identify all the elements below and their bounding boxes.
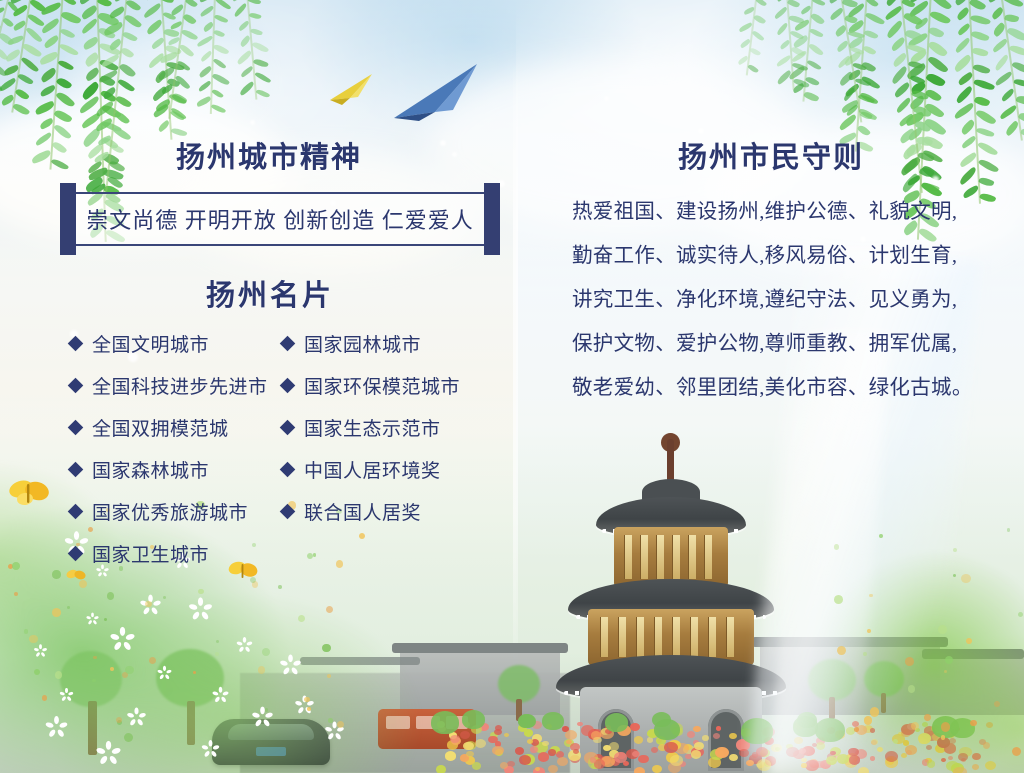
confetti-dot xyxy=(14,592,18,596)
flower-icon xyxy=(160,668,169,677)
confetti-dot xyxy=(893,739,898,744)
list-item-label: 国家优秀旅游城市 xyxy=(92,498,248,525)
bush-icon xyxy=(605,713,628,732)
confetti-dot xyxy=(359,533,365,539)
cards-column-right: 国家园林城市 国家环保模范城市 国家生态示范市 中国人居环境奖 联合国人居奖 xyxy=(282,322,460,532)
confetti-dot xyxy=(961,574,971,584)
page-title-rules: 扬州市民守则 xyxy=(678,134,864,176)
confetti-dot xyxy=(92,679,96,683)
list-item-label: 中国人居环境奖 xyxy=(304,456,441,483)
rules-line: 勤奋工作、诚实待人,移风易俗、计划生育, xyxy=(572,234,982,278)
rules-line: 讲究卫生、净化环境,遵纪守法、见义勇为, xyxy=(572,278,982,322)
confetti-dot xyxy=(966,638,972,644)
diamond-bullet-icon xyxy=(68,377,84,393)
confetti-dot xyxy=(908,685,916,693)
list-item-label: 国家森林城市 xyxy=(92,456,209,483)
flower-icon xyxy=(284,658,298,672)
paper-plane-icon xyxy=(391,60,481,122)
list-item: 全国科技进步先进市 xyxy=(70,364,268,406)
confetti-dot xyxy=(24,629,29,634)
confetti-dot xyxy=(328,718,332,722)
flower-icon xyxy=(638,755,649,764)
poster-canvas: 扬州城市精神 崇文尚德 开明开放 创新创造 仁爱爱人 扬州名片 全国文明城市 全… xyxy=(0,0,1024,773)
diamond-bullet-icon xyxy=(280,503,296,519)
flower-icon xyxy=(634,736,643,744)
confetti-dot xyxy=(215,652,219,656)
confetti-dot xyxy=(941,722,951,732)
confetti-dot xyxy=(869,594,872,597)
list-item: 国家卫生城市 xyxy=(70,532,268,574)
butterfly-icon xyxy=(8,478,50,508)
flower-icon xyxy=(114,630,130,646)
confetti-dot xyxy=(924,714,931,721)
flower-icon xyxy=(215,689,226,700)
confetti-dot xyxy=(834,544,839,549)
confetti-dot xyxy=(864,716,872,724)
citizen-rules-text: 热爱祖国、建设扬州,维护公德、礼貌文明, 勤奋工作、诚实待人,移风易俗、计划生育… xyxy=(572,190,982,410)
motto-rule-bottom xyxy=(68,244,492,246)
flower-icon xyxy=(62,690,71,699)
section-title-cards: 扬州名片 xyxy=(206,272,334,314)
bokeh-sparkle xyxy=(932,176,939,183)
flower-icon xyxy=(130,710,142,722)
confetti-dot xyxy=(336,560,343,567)
confetti-dot xyxy=(12,562,20,570)
list-item: 国家园林城市 xyxy=(282,322,460,364)
flower-icon xyxy=(49,719,64,734)
bush-icon xyxy=(652,712,672,728)
confetti-dot xyxy=(307,707,311,711)
motto-bar-right xyxy=(484,183,500,255)
confetti-dot xyxy=(298,615,305,622)
list-item-label: 国家卫生城市 xyxy=(92,540,209,567)
confetti-dot xyxy=(870,707,880,717)
confetti-dot xyxy=(327,674,331,678)
list-item: 中国人居环境奖 xyxy=(282,448,460,490)
confetti-dot xyxy=(953,548,957,552)
flower-icon xyxy=(88,614,96,622)
flower-icon xyxy=(590,757,597,762)
flower-icon xyxy=(652,765,662,773)
confetti-dot xyxy=(107,592,115,600)
diamond-bullet-icon xyxy=(280,461,296,477)
diamond-bullet-icon xyxy=(280,419,296,435)
rules-line: 热爱祖国、建设扬州,维护公德、礼貌文明, xyxy=(572,190,982,234)
list-item-label: 全国科技进步先进市 xyxy=(92,372,268,399)
list-item-label: 全国文明城市 xyxy=(92,330,209,357)
rules-line: 敬老爱幼、邻里团结,美化市容、绿化古城。 xyxy=(572,366,982,410)
diamond-bullet-icon xyxy=(280,335,296,351)
diamond-bullet-icon xyxy=(68,545,84,561)
confetti-dot xyxy=(250,577,256,583)
confetti-dot xyxy=(258,666,265,673)
list-item: 国家森林城市 xyxy=(70,448,268,490)
flower-icon xyxy=(36,646,45,655)
bokeh-sparkle xyxy=(440,140,446,146)
confetti-dot xyxy=(145,601,152,608)
confetti-dot xyxy=(837,646,846,655)
confetti-dot xyxy=(905,657,914,666)
confetti-dot xyxy=(55,671,63,679)
rules-line: 保护文物、爱护公物,尊师重教、拥军优属, xyxy=(572,322,982,366)
list-item-label: 国家生态示范市 xyxy=(304,414,441,441)
confetti-dot xyxy=(322,644,331,653)
bokeh-sparkle xyxy=(452,152,457,157)
flower-icon xyxy=(593,737,601,744)
list-item-label: 国家环保模范城市 xyxy=(304,372,460,399)
bokeh-sparkle xyxy=(250,120,255,125)
list-item: 联合国人居奖 xyxy=(282,490,460,532)
diamond-bullet-icon xyxy=(68,503,84,519)
confetti-dot xyxy=(216,640,219,643)
motto-banner: 崇文尚德 开明开放 创新创造 仁爱爱人 xyxy=(60,183,500,255)
flower-icon xyxy=(651,747,659,753)
cards-column-left: 全国文明城市 全国科技进步先进市 全国双拥模范城 国家森林城市 国家优秀旅游城市… xyxy=(70,322,268,574)
confetti-dot xyxy=(42,695,48,701)
confetti-dot xyxy=(938,625,947,634)
confetti-dot xyxy=(278,585,282,589)
confetti-dot xyxy=(834,595,843,604)
diamond-bullet-icon xyxy=(68,419,84,435)
list-item: 国家生态示范市 xyxy=(282,406,460,448)
confetti-dot xyxy=(52,608,61,617)
list-item: 全国文明城市 xyxy=(70,322,268,364)
motto-text: 崇文尚德 开明开放 创新创造 仁爱爱人 xyxy=(86,203,474,235)
list-item-label: 全国双拥模范城 xyxy=(92,414,229,441)
diamond-bullet-icon xyxy=(280,377,296,393)
flower-icon xyxy=(205,743,217,755)
confetti-dot xyxy=(124,733,133,742)
list-item: 全国双拥模范城 xyxy=(70,406,268,448)
flower-icon xyxy=(100,744,116,760)
motto-bar-left xyxy=(60,183,76,255)
flower-icon xyxy=(239,639,249,649)
flower-icon xyxy=(630,723,641,732)
confetti-dot xyxy=(52,570,60,578)
page-title-spirit: 扬州城市精神 xyxy=(176,134,362,176)
list-item: 国家环保模范城市 xyxy=(282,364,460,406)
list-item-label: 联合国人居奖 xyxy=(304,498,421,525)
list-item: 国家优秀旅游城市 xyxy=(70,490,268,532)
flower-icon xyxy=(193,601,208,616)
paper-plane-icon xyxy=(328,72,374,106)
diamond-bullet-icon xyxy=(68,461,84,477)
list-item-label: 国家园林城市 xyxy=(304,330,421,357)
confetti-dot xyxy=(93,656,97,660)
motto-box: 崇文尚德 开明开放 创新创造 仁爱爱人 xyxy=(76,194,484,244)
confetti-dot xyxy=(970,720,976,726)
flower-icon xyxy=(614,752,627,763)
confetti-dot xyxy=(945,656,953,664)
confetti-dot xyxy=(67,606,70,609)
diamond-bullet-icon xyxy=(68,335,84,351)
bokeh-sparkle xyxy=(604,96,609,101)
flower-icon xyxy=(634,767,645,773)
confetti-dot xyxy=(29,635,37,643)
